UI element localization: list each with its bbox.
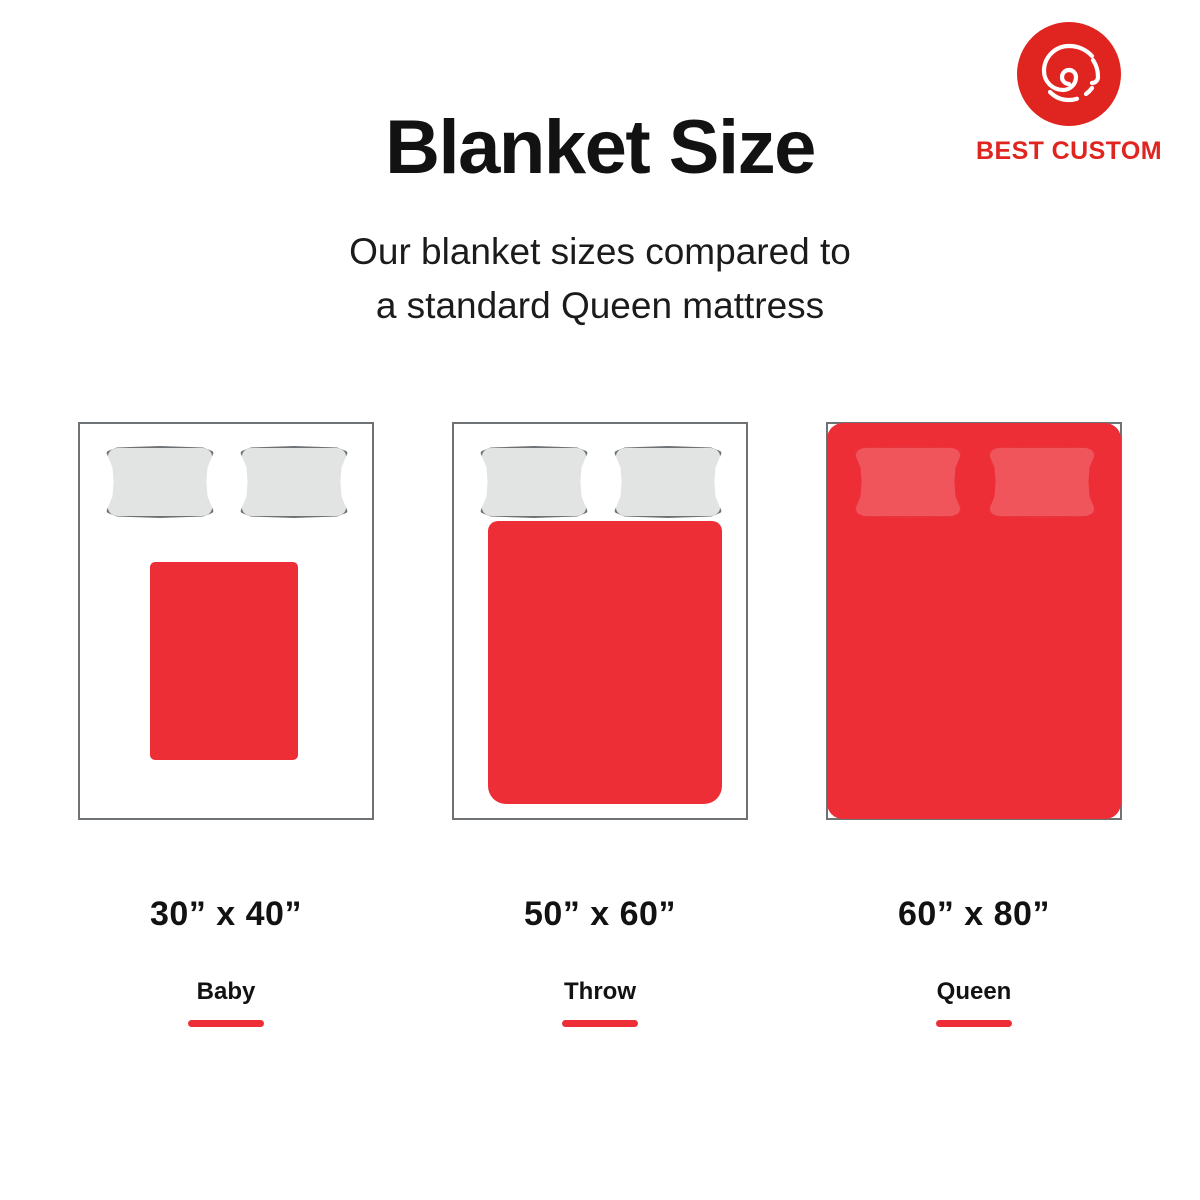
pillow-icon (480, 446, 588, 518)
caption-group: 30” x 40” Baby 50” x 60” Throw 60” x 80”… (0, 895, 1200, 1055)
dimensions-label: 50” x 60” (452, 895, 748, 934)
covered-pillow-icon (854, 446, 962, 518)
underline-rule (562, 1020, 638, 1027)
blanket-shape-throw (488, 521, 722, 804)
caption-throw: 50” x 60” Throw (452, 895, 748, 1027)
page-title: Blanket Size (0, 104, 1200, 191)
subtitle-line-1: Our blanket sizes compared to (0, 225, 1200, 279)
bed-diagram-queen (826, 422, 1122, 820)
pillow-icon (106, 446, 214, 518)
dimensions-label: 30” x 40” (78, 895, 374, 934)
blanket-size-infographic: BEST CUSTOM Blanket Size Our blanket siz… (0, 0, 1200, 1200)
caption-queen: 60” x 80” Queen (826, 895, 1122, 1027)
subtitle-line-2: a standard Queen mattress (0, 279, 1200, 333)
covered-pillow-icon (988, 446, 1096, 518)
size-name-label: Throw (452, 978, 748, 1006)
caption-baby: 30” x 40” Baby (78, 895, 374, 1027)
pillow-icon (614, 446, 722, 518)
underline-rule (936, 1020, 1012, 1027)
page-subtitle: Our blanket sizes compared to a standard… (0, 225, 1200, 332)
blanket-shape-queen (827, 423, 1121, 819)
dimensions-label: 60” x 80” (826, 895, 1122, 934)
bed-diagram-baby (78, 422, 374, 820)
size-name-label: Queen (826, 978, 1122, 1006)
underline-rule (188, 1020, 264, 1027)
size-name-label: Baby (78, 978, 374, 1006)
blanket-shape-baby (150, 562, 298, 760)
pillow-icon (240, 446, 348, 518)
bed-diagram-throw (452, 422, 748, 820)
bed-diagram-group (0, 422, 1200, 822)
